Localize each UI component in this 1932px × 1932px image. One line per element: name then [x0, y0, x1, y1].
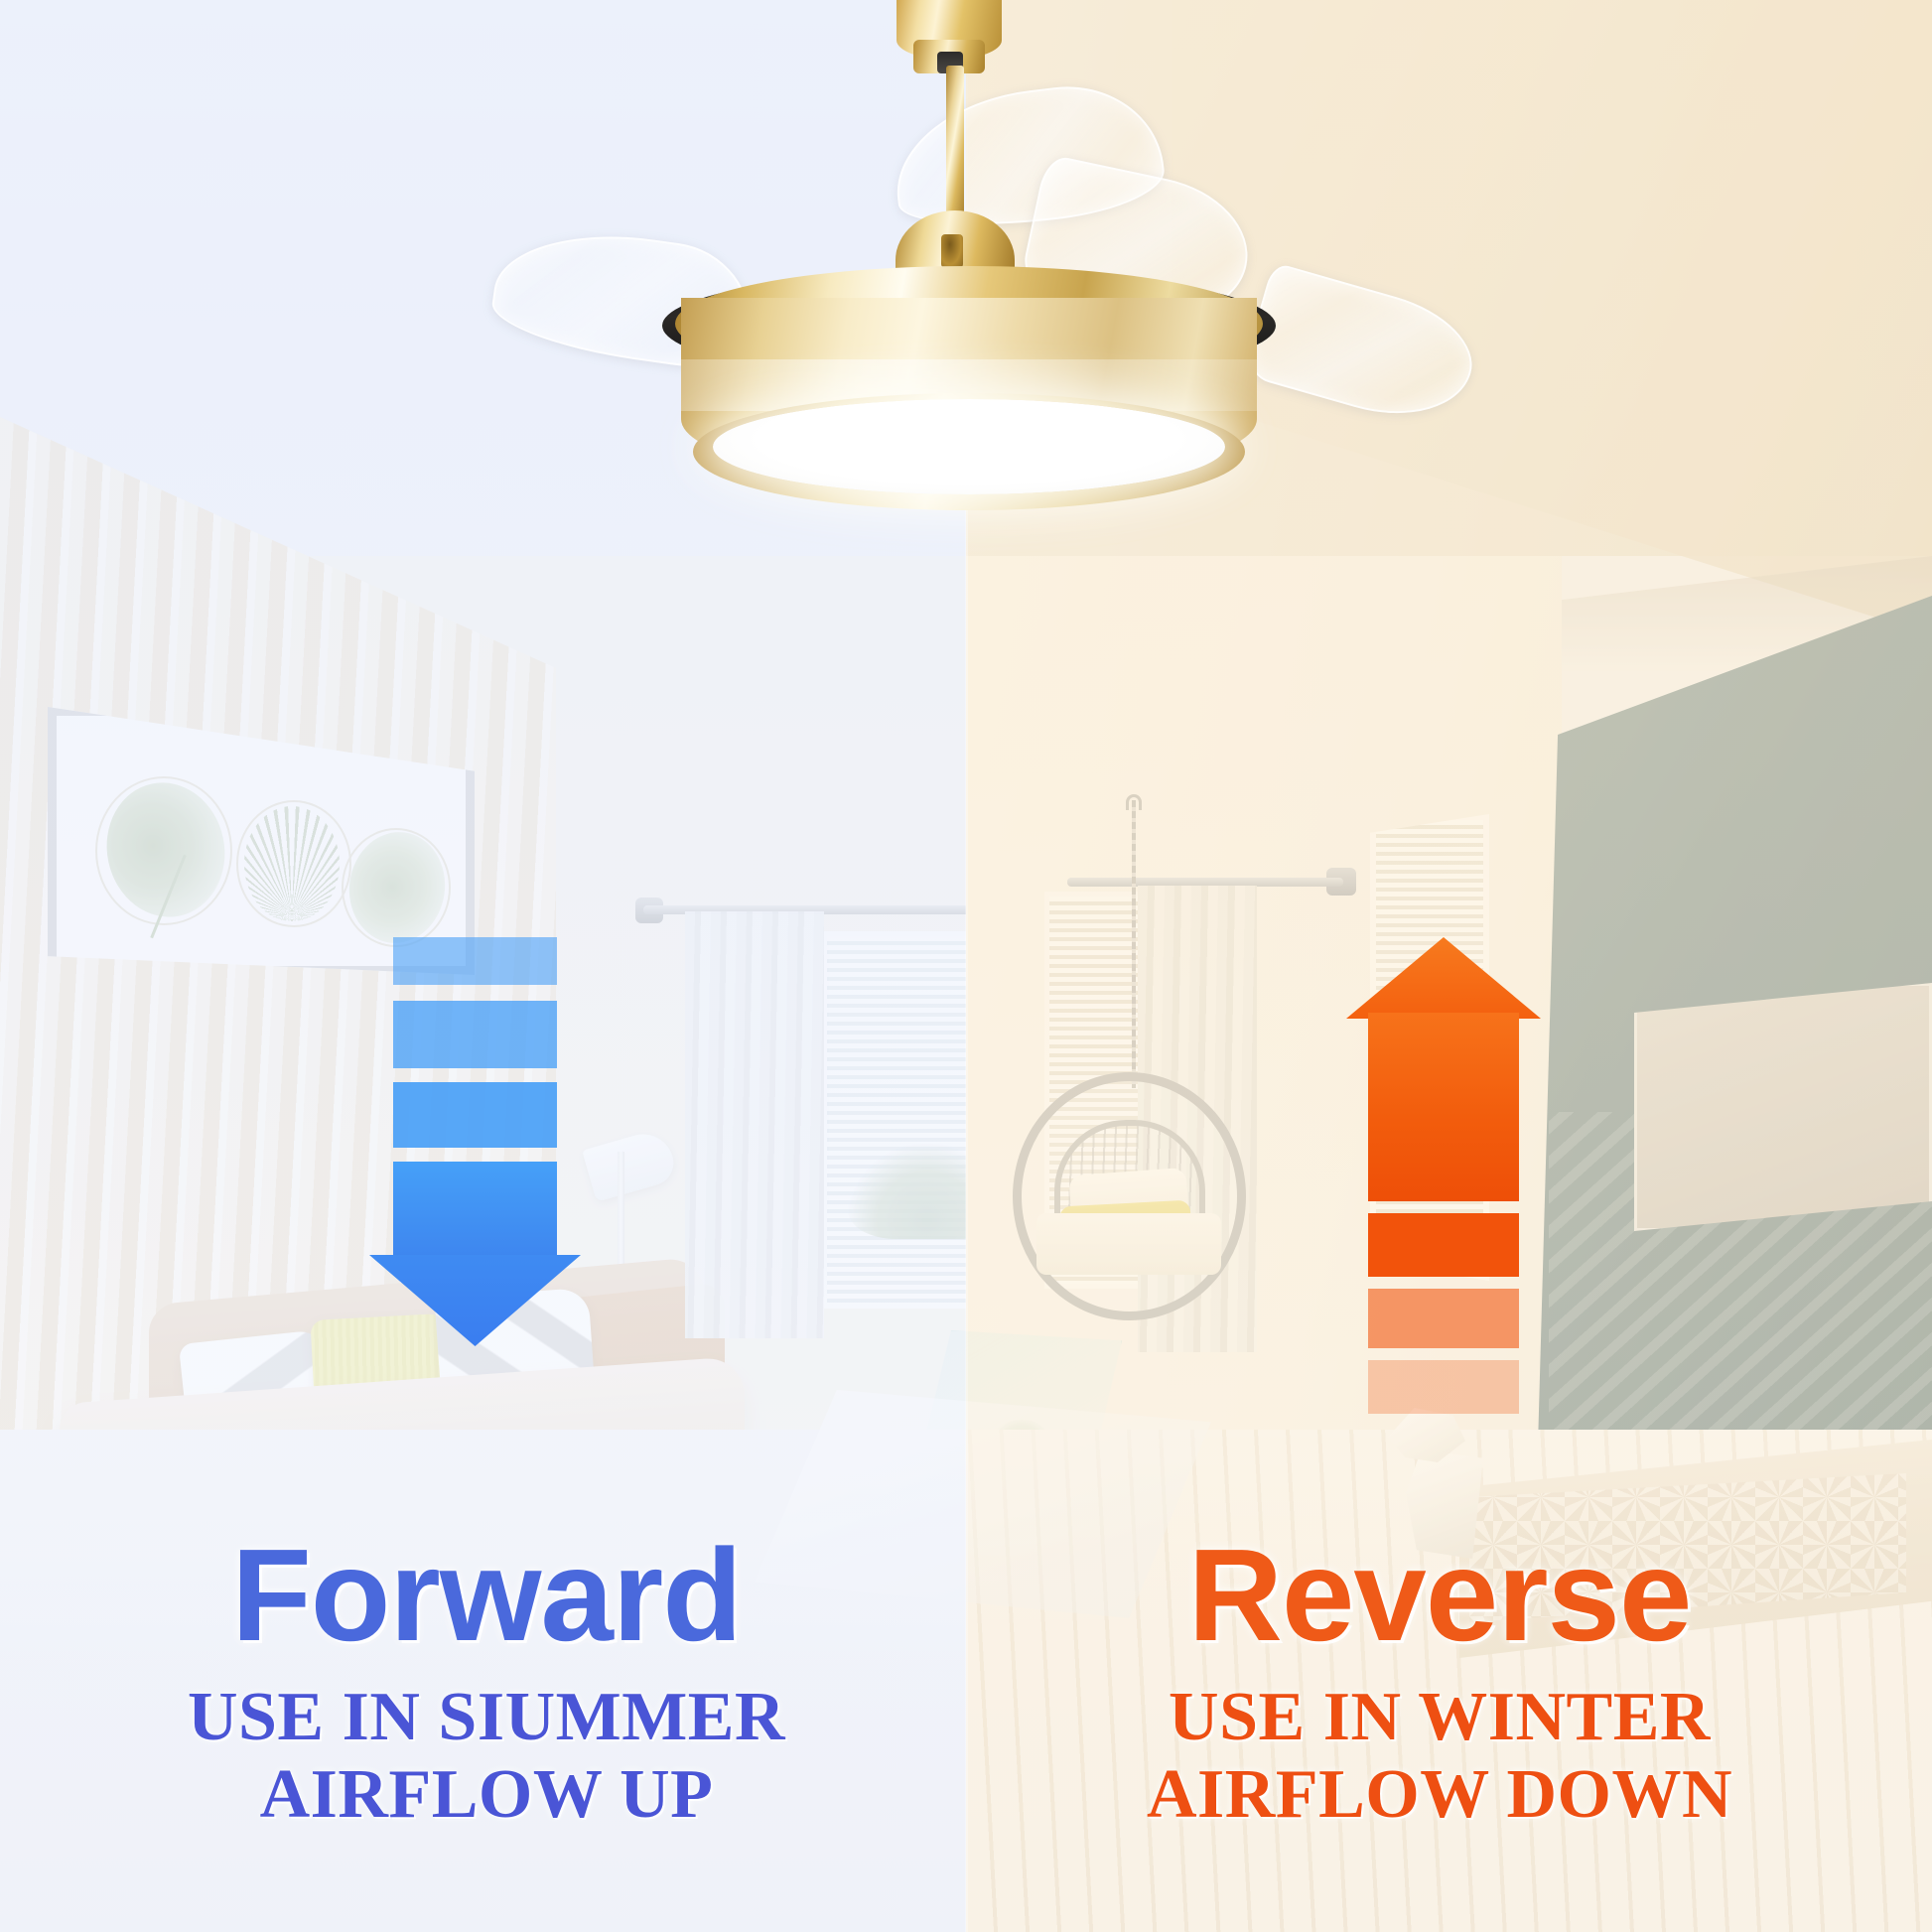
ceiling-fan [0, 0, 1932, 596]
airflow-segment [393, 1082, 557, 1148]
airflow-segment [1368, 1213, 1519, 1277]
airflow-segment [1368, 1289, 1519, 1348]
reverse-subtitle: USE IN WINTER AIRFLOW DOWN [1003, 1679, 1876, 1835]
arrow-head-up-icon [1346, 937, 1541, 1019]
grey-curtain [685, 911, 824, 1338]
airflow-up-arrow [1368, 937, 1519, 1332]
forward-caption-block: Forward USE IN SIUMMER AIRFLOW UP [60, 1529, 913, 1834]
led-light-panel [713, 399, 1225, 494]
airflow-segment [1368, 1360, 1519, 1414]
forward-title: Forward [60, 1529, 913, 1663]
egg-chair-seat [1036, 1213, 1221, 1275]
hanging-chain [1132, 800, 1136, 1088]
forward-subtitle: USE IN SIUMMER AIRFLOW UP [60, 1679, 913, 1835]
reverse-title: Reverse [1003, 1529, 1876, 1663]
arrow-shaft [1368, 1013, 1519, 1201]
fan-yoke-screw [941, 234, 963, 268]
airflow-segment [393, 1001, 557, 1068]
wall-mounted-tv [1634, 983, 1932, 1231]
fan-blade [1241, 262, 1485, 436]
reverse-subtitle-line-1: USE IN WINTER [1003, 1679, 1876, 1756]
floor-lamp-shade [582, 1127, 679, 1202]
forward-subtitle-line-2: AIRFLOW UP [60, 1756, 913, 1834]
reverse-caption-block: Reverse USE IN WINTER AIRFLOW DOWN [1003, 1529, 1876, 1834]
palm-fan-leaf-icon [244, 806, 340, 921]
forward-subtitle-line-1: USE IN SIUMMER [60, 1679, 913, 1756]
fan-downrod [946, 66, 964, 234]
airflow-down-arrow [393, 937, 557, 1326]
arrow-shaft [393, 1162, 557, 1257]
airflow-segment [393, 937, 557, 985]
product-infographic: Forward USE IN SIUMMER AIRFLOW UP Revers… [0, 0, 1932, 1932]
reverse-subtitle-line-2: AIRFLOW DOWN [1003, 1756, 1876, 1834]
